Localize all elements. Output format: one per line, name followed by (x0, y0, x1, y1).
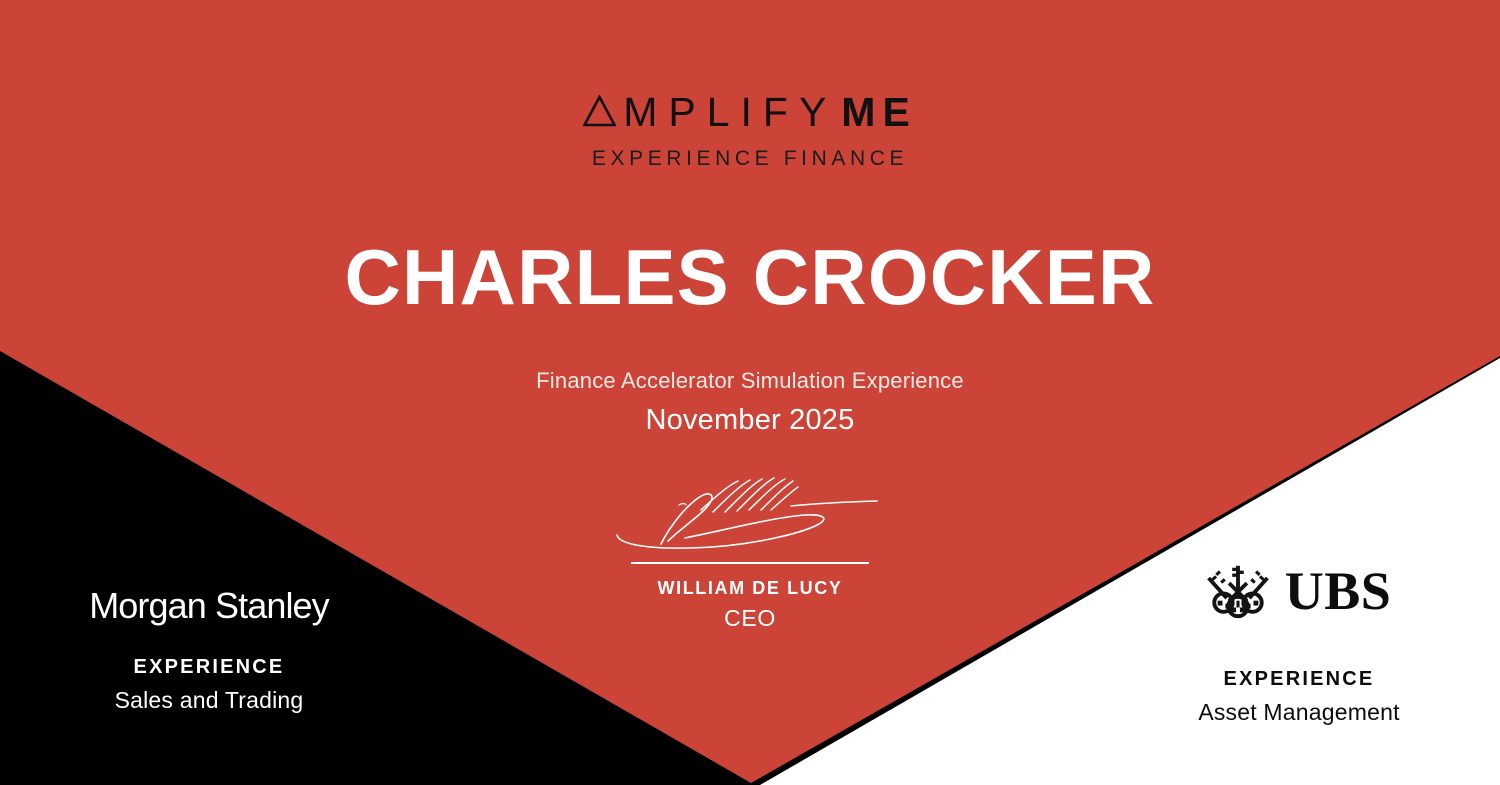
brand-tagline: EXPERIENCE FINANCE (0, 147, 1500, 171)
ubs-three-keys-icon (1207, 560, 1269, 622)
partner-track-morgan-stanley: Sales and Trading (28, 687, 390, 714)
partner-caption-ubs: EXPERIENCE (1118, 668, 1480, 691)
recipient-name: CHARLES CROCKER (0, 238, 1500, 316)
partner-block-morgan-stanley: Morgan Stanley EXPERIENCE Sales and Trad… (28, 588, 390, 714)
signature-rule (631, 562, 869, 564)
morgan-stanley-wordmark-icon: Morgan Stanley (28, 588, 390, 624)
partner-block-ubs: UBS EXPERIENCE Asset Management (1118, 560, 1480, 726)
brand-name-light: MPLIFY (623, 89, 837, 135)
signature-block: WILLIAM DE LUCY CEO (595, 472, 905, 632)
brand-lockup: MPLIFYME EXPERIENCE FINANCE (0, 92, 1500, 171)
partner-caption-morgan-stanley: EXPERIENCE (28, 656, 390, 679)
triangle-a-icon (583, 95, 616, 127)
brand-name-bold: ME (841, 89, 917, 135)
brand-wordmark: MPLIFYME (583, 92, 917, 133)
ubs-wordmark: UBS (1285, 564, 1392, 618)
ubs-logo-lockup: UBS (1118, 560, 1480, 622)
programme-block: Finance Accelerator Simulation Experienc… (0, 368, 1500, 437)
handwritten-signature-icon (605, 472, 895, 558)
certificate-canvas: MPLIFYME EXPERIENCE FINANCE CHARLES CROC… (0, 0, 1500, 785)
partner-track-ubs: Asset Management (1118, 699, 1480, 726)
signer-title: CEO (595, 605, 905, 632)
programme-title: Finance Accelerator Simulation Experienc… (0, 368, 1500, 394)
signer-name: WILLIAM DE LUCY (595, 578, 905, 599)
programme-date: November 2025 (0, 404, 1500, 437)
